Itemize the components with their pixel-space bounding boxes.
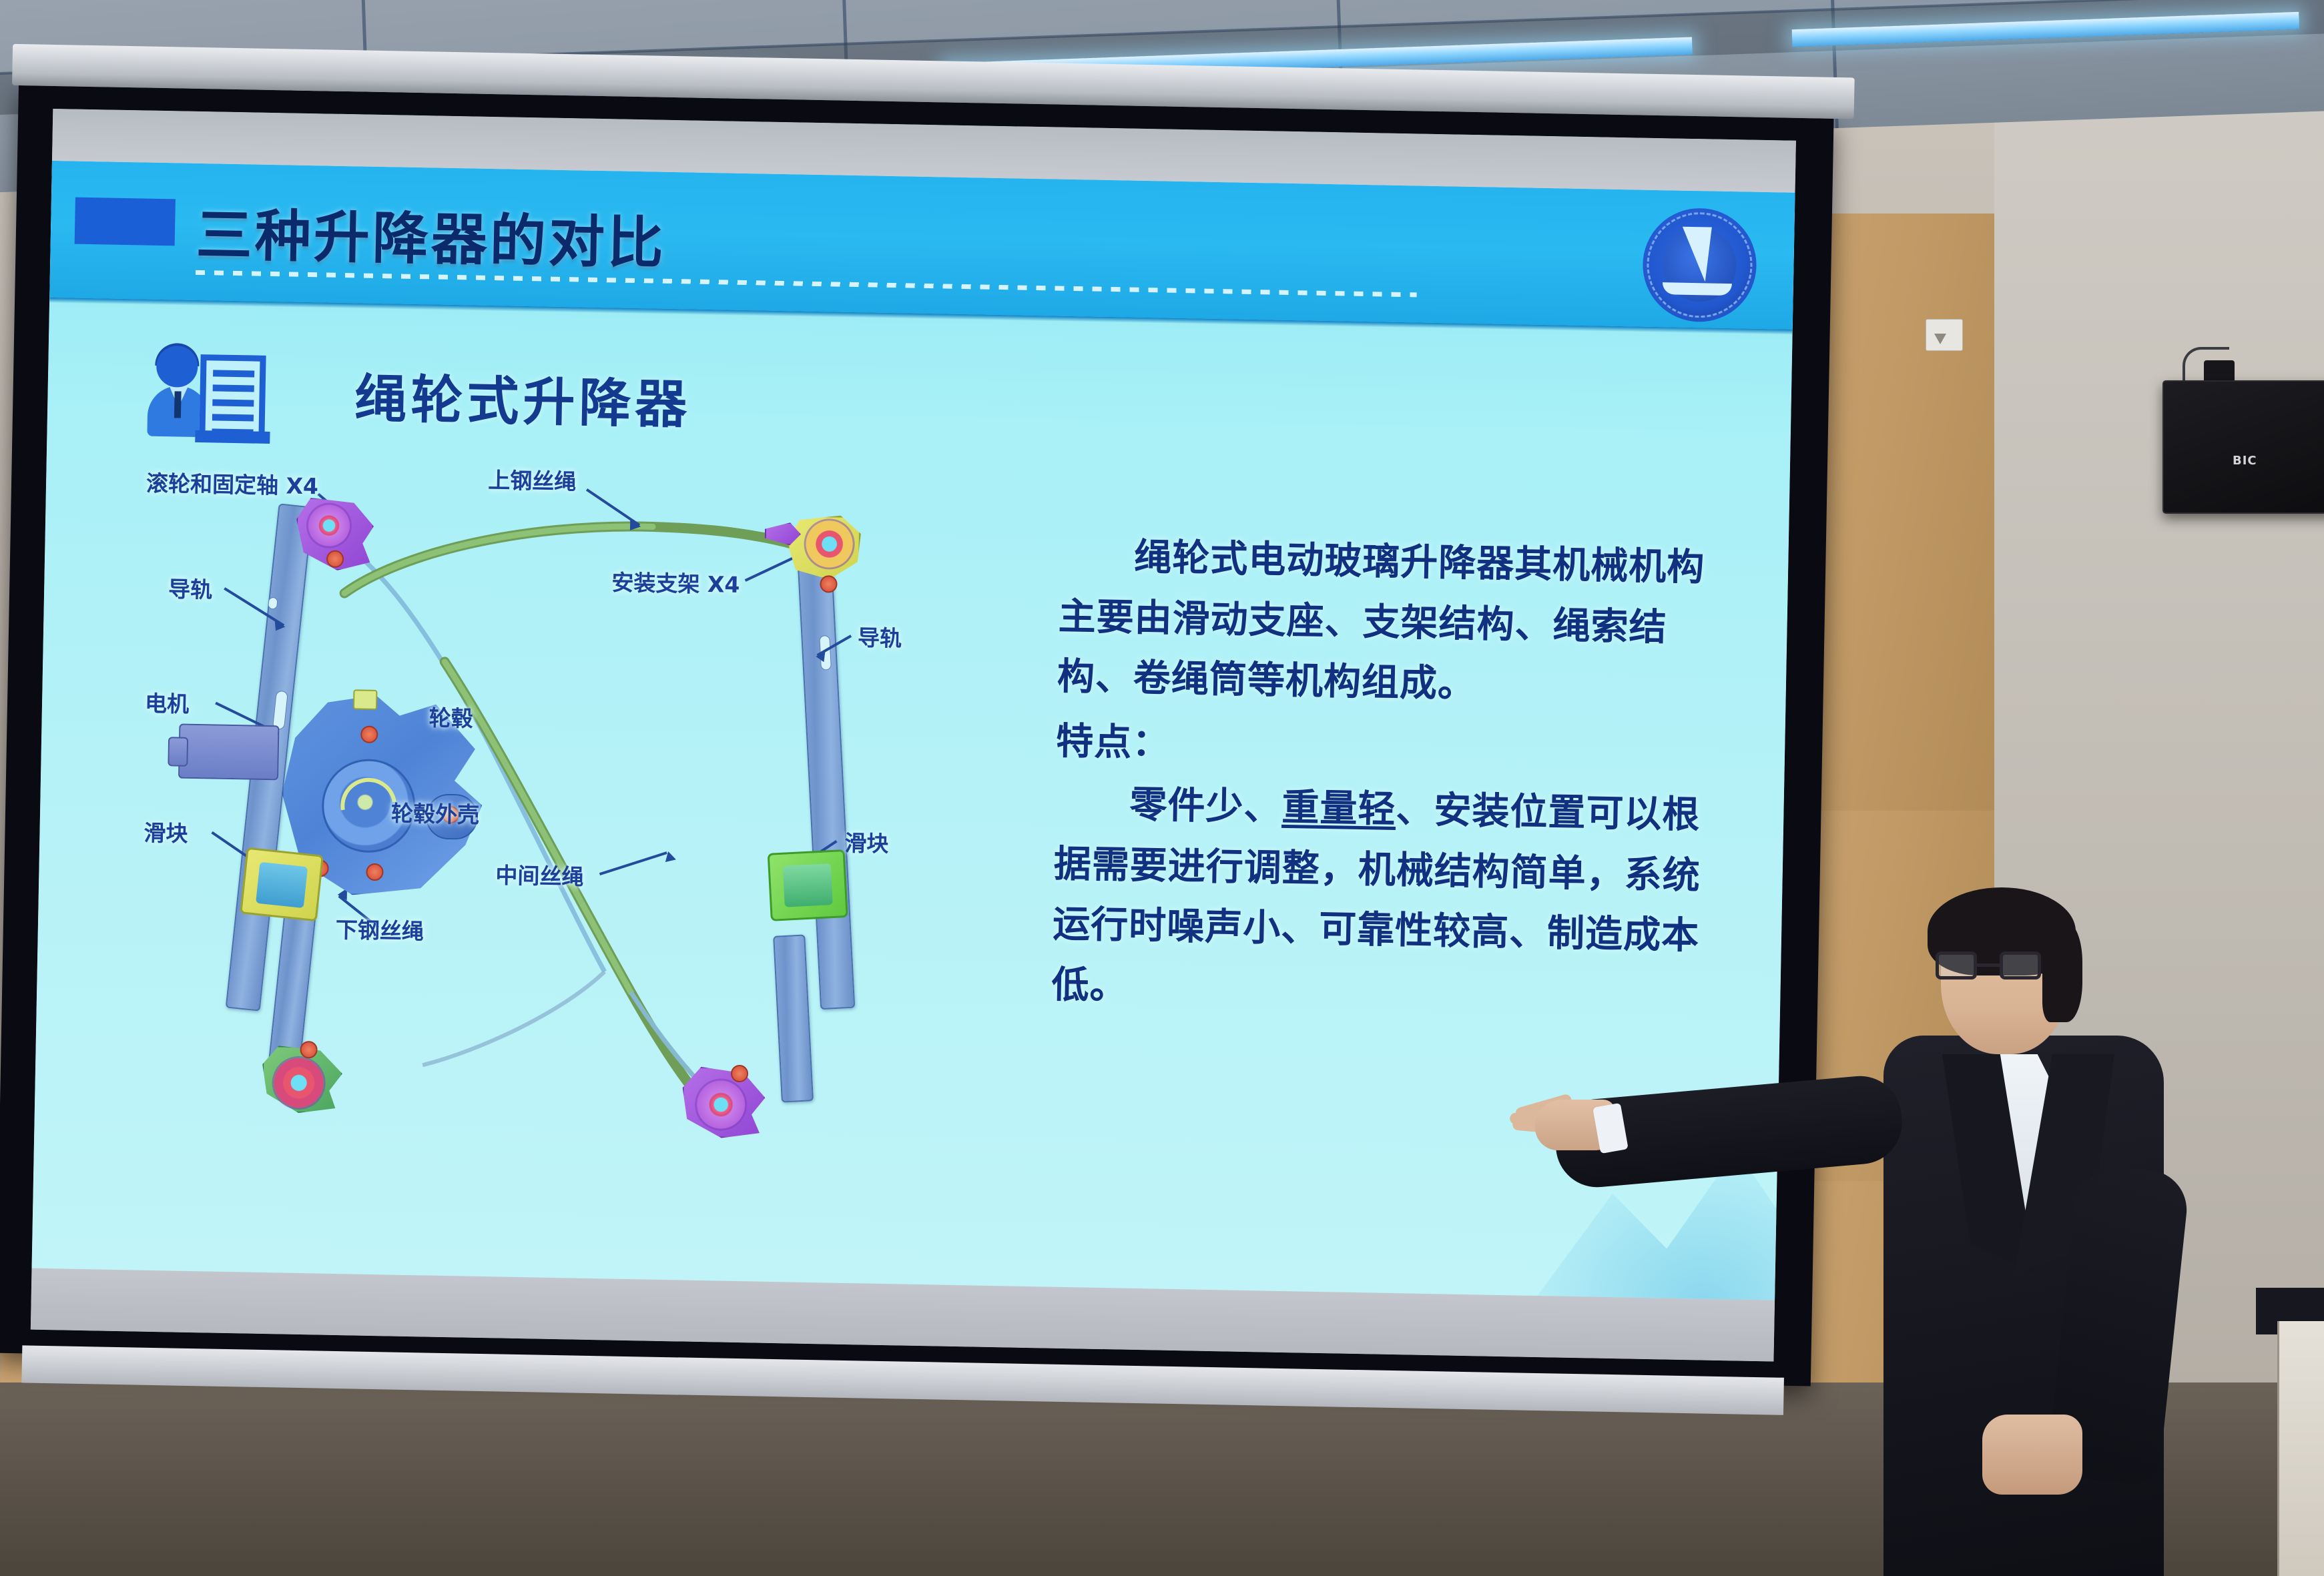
cable-anchor-yellow [353,689,378,710]
diagram-label-hub-housing: 轮毂外壳 [391,795,480,829]
sailboat-hull-icon [1663,282,1732,296]
slide-subtitle-text: 绳轮式升降器 [354,357,692,438]
features-paragraph: 零件少、重量轻、安装位置可以根据需要进行调整，机械结构简单，系统运行时噪声小、可… [1051,774,1729,1028]
diagram-label-slider-right: 滑块 [844,825,889,858]
projection-screen: 三种升降器的对比 [0,85,1834,1387]
header-dashed-divider [196,270,1417,298]
presenter-right-hand [1982,1415,2082,1495]
slide-subtitle-row: 绳轮式升降器 [147,342,692,450]
diagram-label-middle-cable: 中间丝绳 [495,857,584,891]
bolt-top-right [820,575,837,593]
diagram-label-guide-rail-right: 导轨 [858,620,902,653]
header-accent-block [75,198,176,246]
motor-body [178,724,279,781]
regulator-diagram: 滚轮和固定轴 X4 上钢丝绳 安装支架 X4 导轨 导轨 电机 轮毂 滑块 滑块… [132,456,994,1259]
presenter-left-hand [1522,1080,1622,1161]
diagram-label-guide-rail-left: 导轨 [168,571,213,604]
diagram-label-hub: 轮毂 [428,700,473,733]
diagram-label-slider-left: 滑块 [143,815,188,848]
diagram-label-lower-steel-cable: 下钢丝绳 [335,912,424,945]
slide-body-text: 绳轮式电动玻璃升降器其机械机构主要由滑动支座、支架结构、绳索结构、卷绳筒等机构组… [1051,526,1734,1032]
person-document-icon [147,342,269,442]
feature-highlight-text: 重量轻 [1281,786,1396,831]
sailboat-icon [1667,226,1712,282]
speaker-brand-label: BIC [2233,454,2257,468]
diagram-label-upper-steel-cable: 上钢丝绳 [488,462,577,496]
diagram-label-motor: 电机 [145,686,190,719]
lecture-room-scene: BIC 三种升降器的对比 [0,0,2324,1576]
slider-left-inner-icon [256,862,308,908]
presenter [1842,887,2323,1576]
diagram-label-mounting-bracket: 安装支架 X4 [611,564,740,599]
university-sailboat-logo [1642,208,1757,323]
wall-speaker [2162,380,2324,514]
presenter-hair-side [2042,922,2082,1022]
screen-canvas: 三种升降器的对比 [31,109,1796,1362]
body-paragraph-1: 绳轮式电动玻璃升降器其机械机构主要由滑动支座、支架结构、绳索结构、卷绳筒等机构组… [1057,526,1734,721]
motor-shaft [168,737,188,767]
feature-text-part-1: 零件少、 [1129,783,1282,829]
slide-title: 三种升降器的对比 [196,190,667,280]
slider-right-inner-icon [783,863,833,907]
features-label: 特点： [1055,712,1730,785]
guide-rail-right-lower [773,934,814,1102]
eyeglasses-icon [1936,951,2042,981]
diagram-label-roller-and-fixed-shaft: 滚轮和固定轴 X4 [146,466,319,501]
